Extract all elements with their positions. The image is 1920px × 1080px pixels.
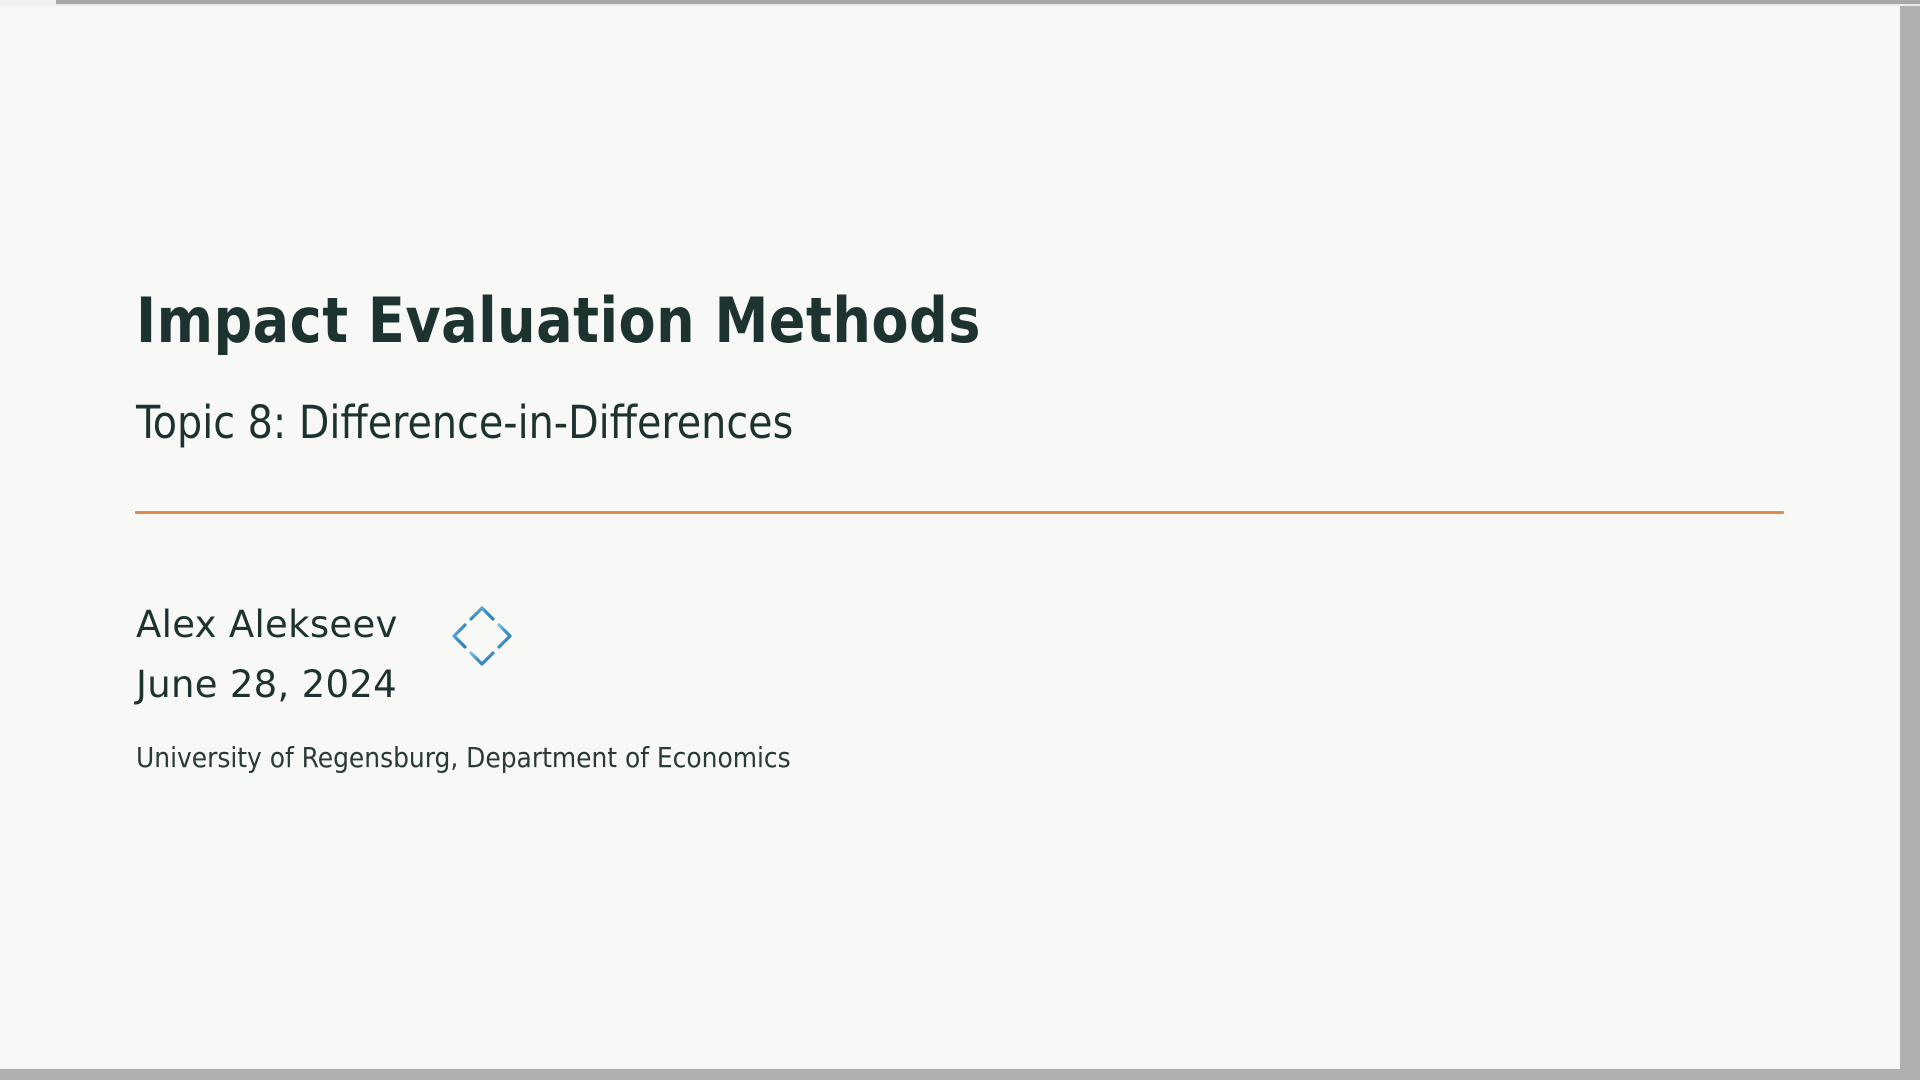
page-subtitle: Topic 8: Difference-in-Differences	[136, 400, 793, 445]
presentation-date: June 28, 2024	[136, 666, 397, 703]
page-title: Impact Evaluation Methods	[136, 290, 981, 352]
move-cursor-icon	[446, 600, 518, 672]
slide-title-page: Impact Evaluation Methods Topic 8: Diffe…	[0, 6, 1900, 1069]
institution-affiliation: University of Regensburg, Department of …	[136, 744, 791, 772]
author-name: Alex Alekseev	[136, 606, 398, 643]
title-divider-rule	[135, 511, 1784, 514]
slide-canvas[interactable]: Impact Evaluation Methods Topic 8: Diffe…	[0, 6, 1900, 1069]
